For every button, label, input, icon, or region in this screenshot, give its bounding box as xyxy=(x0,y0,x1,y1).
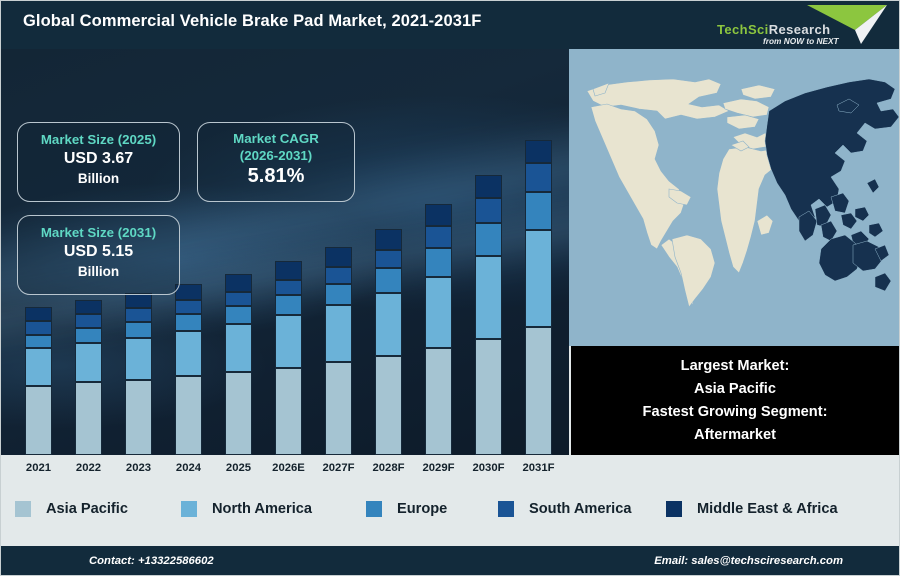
bar-segment-asia-pacific xyxy=(525,327,552,455)
bar-2022 xyxy=(75,300,102,455)
bar-segment-south-america xyxy=(125,308,152,322)
bar-segment-north-america xyxy=(325,305,352,362)
bar-segment-north-america xyxy=(25,348,52,385)
info-box: Largest Market: Asia Pacific Fastest Gro… xyxy=(571,346,899,455)
kpi-unit: Billion xyxy=(18,169,179,188)
kpi-title: Market Size (2025) xyxy=(18,131,179,148)
bar-2030F xyxy=(475,175,502,455)
legend-item-north-america[interactable]: North America xyxy=(181,501,312,517)
bar-segment-middle-east-africa xyxy=(475,175,502,198)
bar-segment-asia-pacific xyxy=(225,372,252,455)
bar-2026E xyxy=(275,261,302,455)
x-axis-labels: 202120222023202420252026E2027F2028F2029F… xyxy=(1,455,569,483)
x-axis-label-2030F: 2030F xyxy=(464,462,514,474)
bar-segment-south-america xyxy=(25,321,52,335)
x-axis-label-2024: 2024 xyxy=(164,462,214,474)
kpi-value: 5.81% xyxy=(198,164,354,189)
bar-segment-north-america xyxy=(225,324,252,372)
legend-item-europe[interactable]: Europe xyxy=(366,501,447,517)
bar-segment-north-america xyxy=(175,331,202,376)
bar-segment-south-america xyxy=(175,300,202,314)
world-map-icon xyxy=(569,49,900,346)
bar-segment-europe xyxy=(75,328,102,342)
bar-segment-south-america xyxy=(75,314,102,328)
legend-swatch xyxy=(498,501,514,517)
kpi-unit: Billion xyxy=(18,262,179,281)
bar-segment-middle-east-africa xyxy=(275,261,302,280)
bar-segment-south-america xyxy=(525,163,552,192)
x-axis-label-2028F: 2028F xyxy=(364,462,414,474)
footer-bar: Contact: +13322586602 Email: sales@techs… xyxy=(1,546,900,576)
bar-segment-north-america xyxy=(275,315,302,368)
logo-name-tech: TechSci xyxy=(717,22,769,37)
bar-segment-middle-east-africa xyxy=(375,229,402,250)
footer-email: Email: sales@techsciresearch.com xyxy=(654,555,843,567)
bar-2027F xyxy=(325,247,352,455)
bar-2025 xyxy=(225,274,252,455)
kpi-subtitle: (2026-2031) xyxy=(198,147,354,164)
bar-segment-europe xyxy=(475,223,502,256)
bar-segment-europe xyxy=(375,268,402,292)
x-axis-label-2029F: 2029F xyxy=(414,462,464,474)
kpi-card-market-cagr: Market CAGR (2026-2031) 5.81% xyxy=(197,122,355,202)
legend-label: North America xyxy=(212,501,312,517)
info-line-fastest-segment-label: Fastest Growing Segment: xyxy=(571,401,899,424)
bar-segment-south-america xyxy=(475,198,502,224)
bar-2021 xyxy=(25,307,52,455)
legend-swatch xyxy=(666,501,682,517)
bar-segment-south-america xyxy=(375,250,402,269)
bar-segment-middle-east-africa xyxy=(425,204,452,226)
bar-2028F xyxy=(375,229,402,455)
bar-segment-europe xyxy=(425,248,452,276)
legend-label: Europe xyxy=(397,501,447,517)
legend-label: South America xyxy=(529,501,631,517)
x-axis-label-2025: 2025 xyxy=(214,462,264,474)
chart-panel: Market Size (2025) USD 3.67 Billion Mark… xyxy=(1,49,569,455)
logo-tagline: from NOW to NEXT xyxy=(763,36,839,46)
techsci-research-logo: TechSciResearch from NOW to NEXT xyxy=(711,3,893,48)
bar-segment-middle-east-africa xyxy=(525,140,552,163)
bar-2029F xyxy=(425,204,452,455)
bar-segment-asia-pacific xyxy=(375,356,402,455)
bar-segment-asia-pacific xyxy=(475,339,502,455)
logo-wordmark: TechSciResearch xyxy=(717,22,830,37)
bar-segment-middle-east-africa xyxy=(25,307,52,321)
logo-name-research: Research xyxy=(769,22,831,37)
footer-contact: Contact: +13322586602 xyxy=(89,555,214,567)
legend-item-middle-east-africa[interactable]: Middle East & Africa xyxy=(666,501,838,517)
bar-segment-asia-pacific xyxy=(425,348,452,455)
bar-segment-south-america xyxy=(425,226,452,248)
bar-segment-middle-east-africa xyxy=(325,247,352,267)
bar-segment-europe xyxy=(25,335,52,348)
bar-2031F xyxy=(525,140,552,455)
x-axis-label-2027F: 2027F xyxy=(314,462,364,474)
chart-legend: Asia PacificNorth AmericaEuropeSouth Ame… xyxy=(1,483,900,546)
info-line-largest-market-label: Largest Market: xyxy=(571,355,899,378)
bar-2024 xyxy=(175,284,202,455)
kpi-value: USD 3.67 xyxy=(18,148,179,169)
bar-segment-asia-pacific xyxy=(325,362,352,455)
bar-segment-north-america xyxy=(375,293,402,357)
x-axis-label-2031F: 2031F xyxy=(514,462,564,474)
world-map-panel xyxy=(569,49,900,346)
bar-2023 xyxy=(125,293,152,455)
info-line-largest-market-value: Asia Pacific xyxy=(571,378,899,401)
legend-label: Asia Pacific xyxy=(46,501,128,517)
bar-segment-europe xyxy=(125,322,152,337)
legend-swatch xyxy=(181,501,197,517)
legend-swatch xyxy=(15,501,31,517)
legend-label: Middle East & Africa xyxy=(697,501,838,517)
kpi-card-market-size-2031: Market Size (2031) USD 5.15 Billion xyxy=(17,215,180,295)
bar-segment-north-america xyxy=(475,256,502,338)
bar-segment-north-america xyxy=(525,230,552,326)
bar-segment-north-america xyxy=(425,277,452,349)
infographic-root: Global Commercial Vehicle Brake Pad Mark… xyxy=(0,0,900,576)
bar-segment-south-america xyxy=(275,280,302,295)
bar-segment-south-america xyxy=(325,267,352,283)
header-bar: Global Commercial Vehicle Brake Pad Mark… xyxy=(1,1,900,49)
bar-segment-europe xyxy=(275,295,302,315)
x-axis-label-2023: 2023 xyxy=(114,462,164,474)
legend-item-south-america[interactable]: South America xyxy=(498,501,631,517)
x-axis-label-2026E: 2026E xyxy=(264,462,314,474)
kpi-title: Market Size (2031) xyxy=(18,224,179,241)
page-title: Global Commercial Vehicle Brake Pad Mark… xyxy=(23,12,481,31)
info-line-fastest-segment-value: Aftermarket xyxy=(571,424,899,447)
bar-segment-middle-east-africa xyxy=(225,274,252,292)
x-axis-label-2021: 2021 xyxy=(14,462,64,474)
x-axis-label-2022: 2022 xyxy=(64,462,114,474)
bar-segment-asia-pacific xyxy=(175,376,202,455)
bar-segment-europe xyxy=(225,306,252,324)
bar-segment-europe xyxy=(175,314,202,330)
bar-segment-north-america xyxy=(75,343,102,383)
legend-item-asia-pacific[interactable]: Asia Pacific xyxy=(15,501,128,517)
bar-segment-asia-pacific xyxy=(25,386,52,455)
bar-segment-asia-pacific xyxy=(275,368,302,455)
bar-segment-europe xyxy=(325,284,352,306)
kpi-title: Market CAGR xyxy=(198,130,354,147)
bar-segment-middle-east-africa xyxy=(75,300,102,314)
kpi-value: USD 5.15 xyxy=(18,241,179,262)
kpi-card-market-size-2025: Market Size (2025) USD 3.67 Billion xyxy=(17,122,180,202)
bar-segment-europe xyxy=(525,192,552,231)
bar-segment-south-america xyxy=(225,292,252,306)
bar-segment-asia-pacific xyxy=(125,380,152,455)
legend-swatch xyxy=(366,501,382,517)
bar-segment-asia-pacific xyxy=(75,382,102,455)
bar-segment-north-america xyxy=(125,338,152,380)
